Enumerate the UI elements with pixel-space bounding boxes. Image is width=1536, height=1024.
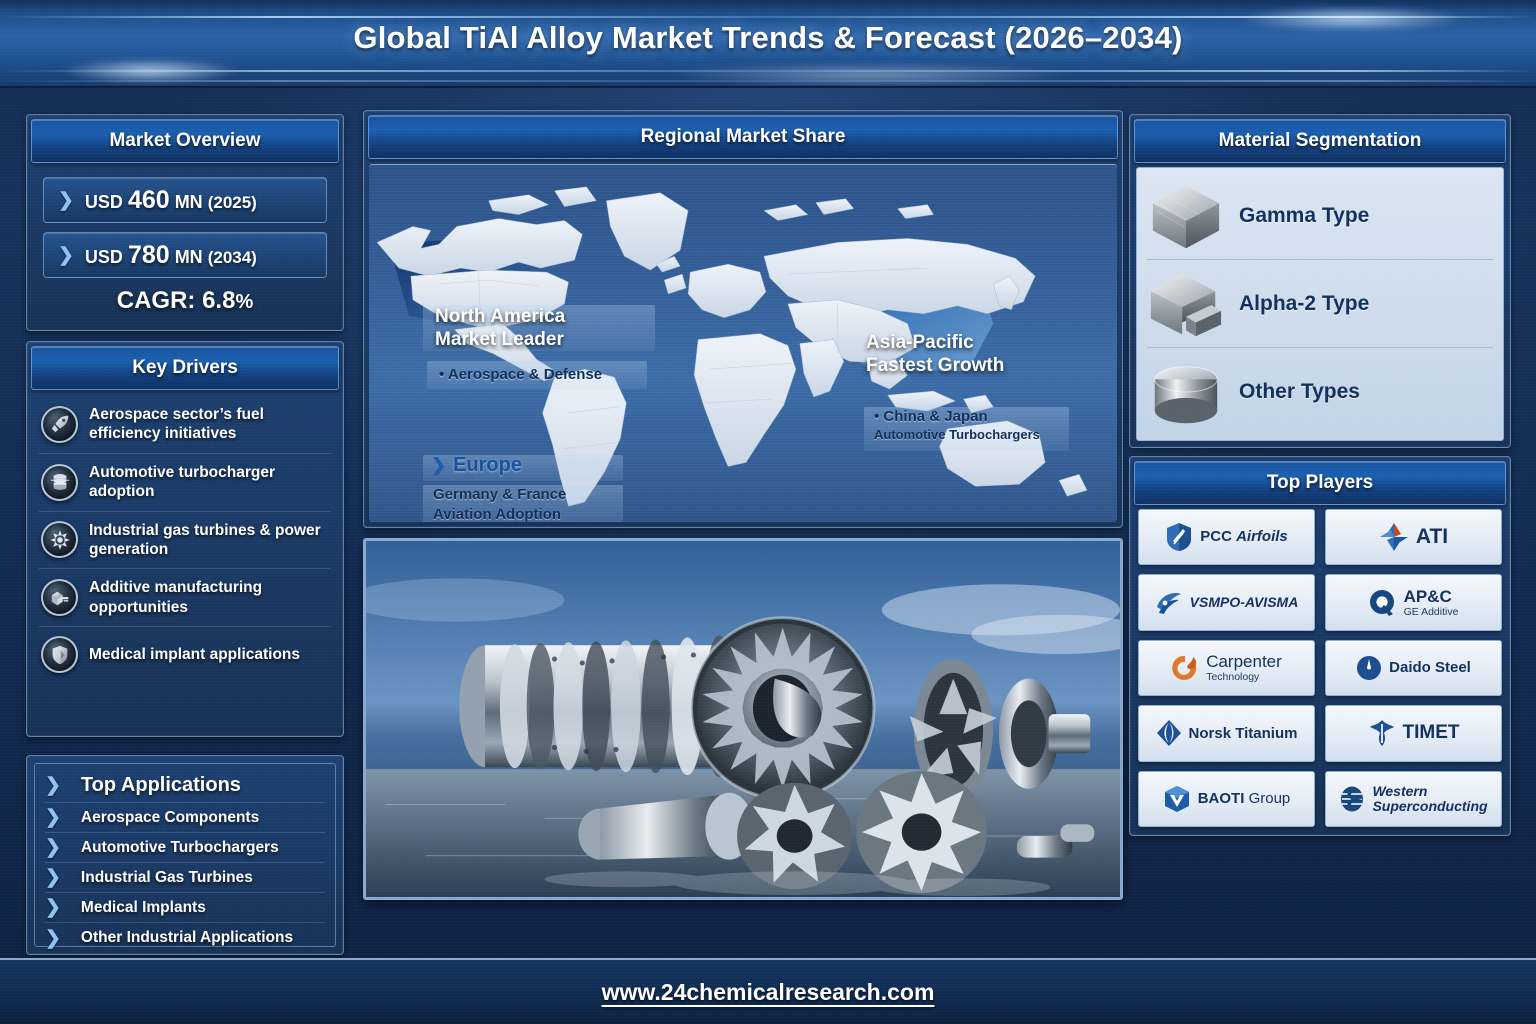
player-name: PCC Airfoils bbox=[1200, 529, 1288, 545]
footer-bar: www.24chemicalresearch.com bbox=[0, 958, 1536, 1024]
application-label: Medical Implants bbox=[81, 899, 206, 917]
top-players-grid: PCC Airfoils ATI VS bbox=[1138, 509, 1502, 827]
player-name: Carpenter bbox=[1206, 653, 1282, 671]
asia-pacific-label: Asia-Pacific Fastest Growth bbox=[866, 331, 1004, 377]
chevron-right-icon: ❯ bbox=[45, 896, 61, 919]
metal-cylinder-icon bbox=[1147, 354, 1225, 430]
player-name: AP&C bbox=[1404, 588, 1459, 606]
player-card-western-superconducting[interactable]: Western Superconducting bbox=[1325, 771, 1502, 827]
material-segmentation-header: Material Segmentation bbox=[1134, 119, 1506, 163]
top-applications-title: Top Applications bbox=[81, 774, 241, 797]
list-item: Additive manufacturing opportunities bbox=[39, 569, 331, 627]
split-cube-icon bbox=[1147, 266, 1225, 342]
material-label: Alpha-2 Type bbox=[1239, 292, 1369, 316]
top-applications-title-row: ❯ Top Applications bbox=[45, 769, 325, 803]
ati-star-icon bbox=[1379, 522, 1409, 552]
cagr-value: CAGR: 6.8% bbox=[43, 287, 327, 315]
chevron-right-icon: ❯ bbox=[45, 836, 61, 859]
chevron-right-icon: ❯ bbox=[431, 455, 446, 476]
player-card-baoti-group[interactable]: BAOTI Group bbox=[1138, 771, 1315, 827]
list-item: ❯ Industrial Gas Turbines bbox=[45, 863, 325, 893]
chevron-right-icon: ❯ bbox=[58, 189, 74, 212]
list-item: Gamma Type bbox=[1147, 172, 1493, 260]
carpenter-swirl-icon bbox=[1171, 654, 1199, 682]
key-driver-label: Additive manufacturing opportunities bbox=[89, 578, 329, 617]
world-map: North America Market Leader • Aerospace … bbox=[369, 164, 1117, 522]
gas-turbine-icon bbox=[41, 521, 78, 558]
player-name-stack: Western Superconducting bbox=[1372, 784, 1487, 813]
player-card-vsmpo-avisma[interactable]: VSMPO-AVISMA bbox=[1138, 574, 1315, 630]
list-item: Medical implant applications bbox=[39, 627, 331, 682]
player-card-apc[interactable]: AP&C GE Additive bbox=[1325, 574, 1502, 630]
application-label: Industrial Gas Turbines bbox=[81, 869, 253, 887]
jet-engine-photo bbox=[363, 538, 1123, 900]
vsmpo-arrow-icon bbox=[1155, 591, 1183, 615]
material-segmentation-panel: Material Segmentation Gamma bbox=[1129, 114, 1511, 448]
daido-drop-icon bbox=[1356, 655, 1382, 681]
player-subtitle: Technology bbox=[1206, 671, 1282, 683]
europe-subtext: Germany & France Aviation Adoption bbox=[433, 485, 566, 522]
list-item: ❯ Aerospace Components bbox=[45, 803, 325, 833]
list-item: Automotive turbocharger adoption bbox=[39, 454, 331, 512]
page-title: Global TiAl Alloy Market Trends & Foreca… bbox=[0, 20, 1536, 56]
key-drivers-panel: Key Drivers Aerospace sector’s fuel effi… bbox=[26, 341, 344, 737]
key-driver-label: Aerospace sector’s fuel efficiency initi… bbox=[89, 405, 329, 444]
player-subtitle: GE Additive bbox=[1404, 606, 1459, 618]
europe-label: ❯ Europe bbox=[431, 454, 522, 477]
chevron-right-icon: ❯ bbox=[58, 244, 74, 267]
baoti-cube-icon bbox=[1163, 784, 1191, 814]
player-name: Norsk Titanium bbox=[1189, 726, 1298, 742]
apc-circle-icon bbox=[1369, 589, 1397, 617]
header-flare bbox=[60, 58, 240, 84]
player-card-carpenter[interactable]: Carpenter Technology bbox=[1138, 640, 1315, 696]
footer-website-url[interactable]: www.24chemicalresearch.com bbox=[602, 979, 935, 1006]
medical-implant-icon bbox=[41, 636, 78, 673]
material-segmentation-list: Gamma Type Alpha-2 Type bbox=[1136, 167, 1504, 441]
market-value-2034: USD 780 MN (2034) bbox=[85, 241, 257, 270]
jet-engine-illustration bbox=[366, 541, 1120, 897]
top-applications-panel: ❯ Top Applications ❯ Aerospace Component… bbox=[26, 755, 344, 955]
key-driver-label: Automotive turbocharger adoption bbox=[89, 463, 329, 502]
additive-manufacturing-icon bbox=[41, 579, 78, 616]
list-item: ❯ Other Industrial Applications bbox=[45, 923, 325, 953]
pcc-shield-icon bbox=[1165, 522, 1193, 552]
material-label: Gamma Type bbox=[1239, 204, 1369, 228]
material-label: Other Types bbox=[1239, 380, 1360, 404]
top-players-title: Top Players bbox=[1267, 472, 1373, 494]
player-name: TIMET bbox=[1403, 723, 1460, 743]
chevron-right-icon: ❯ bbox=[45, 806, 61, 829]
regional-map-header: Regional Market Share bbox=[368, 115, 1118, 159]
regional-market-share-panel: Regional Market Share bbox=[363, 110, 1123, 528]
norsk-diamond-icon bbox=[1156, 719, 1182, 747]
player-name: Western bbox=[1372, 784, 1487, 799]
player-name: ATI bbox=[1416, 526, 1448, 548]
infographic-poster: Global TiAl Alloy Market Trends & Foreca… bbox=[0, 0, 1536, 1024]
regional-map-title: Regional Market Share bbox=[641, 126, 846, 148]
application-label: Automotive Turbochargers bbox=[81, 839, 279, 857]
player-name-stack: Carpenter Technology bbox=[1206, 653, 1282, 683]
player-name-stack: AP&C GE Additive bbox=[1404, 588, 1459, 618]
application-label: Aerospace Components bbox=[81, 809, 259, 827]
player-name: Daido Steel bbox=[1389, 660, 1471, 676]
header-flare bbox=[660, 62, 1080, 88]
application-label: Other Industrial Applications bbox=[81, 929, 293, 947]
turbocharger-icon bbox=[41, 464, 78, 501]
market-overview-header: Market Overview bbox=[31, 119, 339, 163]
player-subtitle: Superconducting bbox=[1372, 799, 1487, 814]
list-item: ❯ Automotive Turbochargers bbox=[45, 833, 325, 863]
chevron-right-icon: ❯ bbox=[45, 774, 61, 797]
top-players-header: Top Players bbox=[1134, 461, 1506, 505]
market-value-2025: USD 460 MN (2025) bbox=[85, 186, 257, 215]
player-card-norsk-titanium[interactable]: Norsk Titanium bbox=[1138, 705, 1315, 761]
top-players-panel: Top Players PCC Airfoils bbox=[1129, 456, 1511, 836]
key-driver-label: Industrial gas turbines & power generati… bbox=[89, 521, 329, 560]
player-name: BAOTI Group bbox=[1198, 791, 1291, 807]
metal-cube-icon bbox=[1147, 178, 1225, 254]
market-overview-body: ❯ USD 460 MN (2025) ❯ USD 780 MN (2034) bbox=[27, 163, 343, 315]
timet-star-icon bbox=[1368, 719, 1396, 747]
chevron-right-icon: ❯ bbox=[45, 927, 61, 950]
list-item: Alpha-2 Type bbox=[1147, 260, 1493, 348]
list-item: Industrial gas turbines & power generati… bbox=[39, 512, 331, 570]
player-card-ati[interactable]: ATI bbox=[1325, 509, 1502, 565]
key-driver-label: Medical implant applications bbox=[89, 645, 300, 664]
top-applications-list: ❯ Top Applications ❯ Aerospace Component… bbox=[34, 763, 336, 947]
key-drivers-header: Key Drivers bbox=[31, 346, 339, 390]
key-drivers-list: Aerospace sector’s fuel efficiency initi… bbox=[27, 390, 343, 682]
material-segmentation-title: Material Segmentation bbox=[1219, 130, 1422, 152]
chevron-right-icon: ❯ bbox=[45, 866, 61, 889]
market-value-row: ❯ USD 780 MN (2034) bbox=[43, 232, 327, 278]
list-item: Other Types bbox=[1147, 348, 1493, 436]
western-stripes-icon bbox=[1339, 785, 1365, 813]
key-drivers-title: Key Drivers bbox=[132, 357, 238, 379]
market-value-row: ❯ USD 460 MN (2025) bbox=[43, 177, 327, 223]
rocket-icon bbox=[41, 406, 78, 443]
player-card-daido-steel[interactable]: Daido Steel bbox=[1325, 640, 1502, 696]
player-card-timet[interactable]: TIMET bbox=[1325, 705, 1502, 761]
market-overview-title: Market Overview bbox=[109, 130, 260, 152]
north-america-label: North America Market Leader bbox=[435, 305, 565, 351]
player-card-pcc-airfoils[interactable]: PCC Airfoils bbox=[1138, 509, 1315, 565]
asia-pacific-bullet: • China & Japan Automotive Turbochargers bbox=[874, 407, 1040, 443]
list-item: ❯ Medical Implants bbox=[45, 893, 325, 923]
player-name: VSMPO-AVISMA bbox=[1190, 595, 1299, 610]
north-america-bullet: • Aerospace & Defense bbox=[439, 365, 602, 385]
market-overview-panel: Market Overview ❯ USD 460 MN (2025) ❯ US… bbox=[26, 114, 344, 331]
header-banner: Global TiAl Alloy Market Trends & Foreca… bbox=[0, 0, 1536, 88]
list-item: Aerospace sector’s fuel efficiency initi… bbox=[39, 396, 331, 454]
